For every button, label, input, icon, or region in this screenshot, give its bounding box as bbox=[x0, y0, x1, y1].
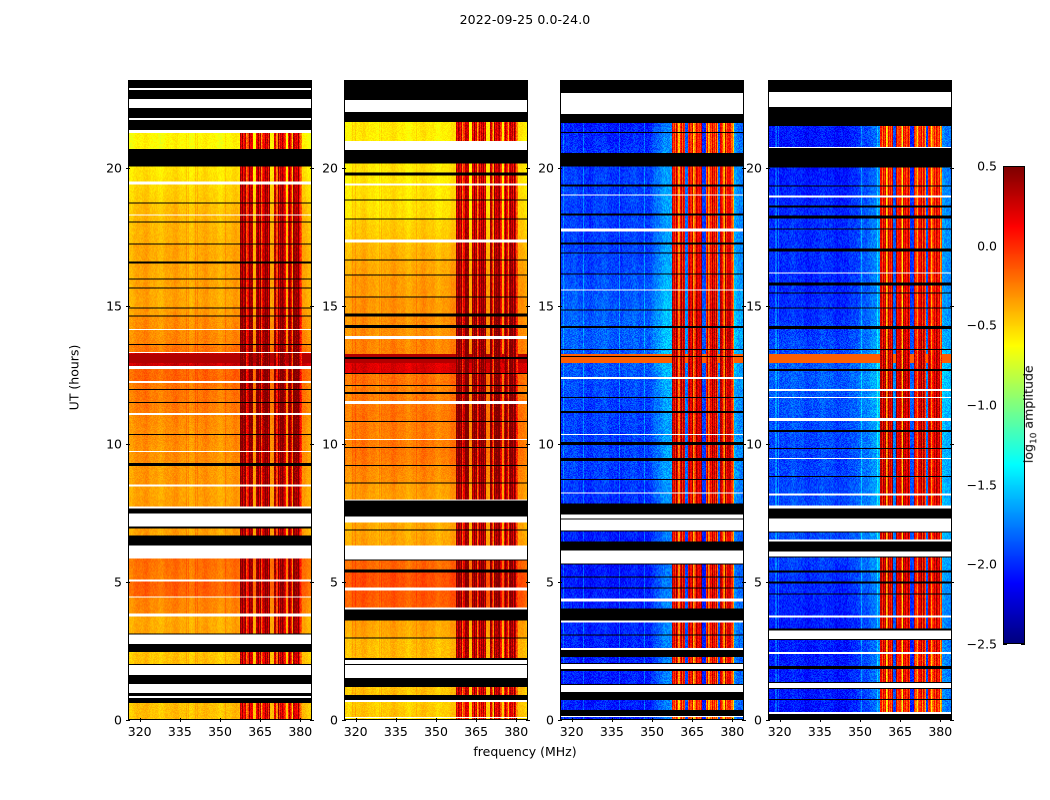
y-tick-label: 0 bbox=[518, 713, 554, 728]
y-tick-mark bbox=[950, 444, 954, 445]
figure-canvas: 2022-09-25 0.0-24.0 XX, V11=EA08 YY, V11… bbox=[0, 0, 1050, 800]
y-tick-label: 0 bbox=[302, 713, 338, 728]
y-tick-mark bbox=[558, 582, 562, 583]
x-tick-mark bbox=[652, 718, 653, 722]
waterfall-yx bbox=[769, 81, 951, 719]
y-tick-mark bbox=[558, 720, 562, 721]
panel-xy-image bbox=[561, 81, 743, 719]
colorbar-tick-mark bbox=[1021, 644, 1025, 645]
y-tick-mark bbox=[766, 306, 770, 307]
x-tick-label: 320 bbox=[560, 724, 584, 739]
panel-yx[interactable]: YX, V11=EA08 bbox=[768, 80, 952, 720]
y-tick-mark bbox=[126, 444, 130, 445]
x-tick-label: 350 bbox=[424, 724, 448, 739]
colorbar-tick-mark bbox=[1003, 644, 1007, 645]
x-tick-mark bbox=[940, 718, 941, 722]
x-tick-mark bbox=[356, 718, 357, 722]
y-tick-mark bbox=[126, 582, 130, 583]
panel-yx-image bbox=[769, 81, 951, 719]
figure-suptitle: 2022-09-25 0.0-24.0 bbox=[0, 12, 1050, 27]
x-tick-label: 350 bbox=[640, 724, 664, 739]
waterfall-yy bbox=[345, 81, 527, 719]
x-tick-mark bbox=[900, 718, 901, 722]
panel-yy[interactable]: YY, V11=EA08 bbox=[344, 80, 528, 720]
x-tick-mark bbox=[436, 718, 437, 722]
x-tick-mark bbox=[260, 718, 261, 722]
y-tick-mark bbox=[342, 306, 346, 307]
x-tick-mark bbox=[612, 718, 613, 722]
y-tick-mark bbox=[766, 168, 770, 169]
y-tick-label: 15 bbox=[302, 299, 338, 314]
y-tick-mark bbox=[950, 720, 954, 721]
waterfall-xy bbox=[561, 81, 743, 719]
y-tick-label: 20 bbox=[726, 161, 762, 176]
x-tick-label: 380 bbox=[928, 724, 952, 739]
y-tick-mark bbox=[558, 168, 562, 169]
x-tick-label: 320 bbox=[768, 724, 792, 739]
y-tick-label: 15 bbox=[86, 299, 122, 314]
panel-yy-image bbox=[345, 81, 527, 719]
y-tick-mark bbox=[342, 168, 346, 169]
y-tick-mark bbox=[950, 306, 954, 307]
x-tick-label: 350 bbox=[848, 724, 872, 739]
x-tick-label: 320 bbox=[128, 724, 152, 739]
x-tick-mark bbox=[572, 718, 573, 722]
x-tick-label: 350 bbox=[208, 724, 232, 739]
panel-xx-image bbox=[129, 81, 311, 719]
y-tick-mark bbox=[766, 582, 770, 583]
y-tick-mark bbox=[342, 582, 346, 583]
colorbar-tick-label: −2.0 bbox=[959, 557, 997, 572]
y-tick-mark bbox=[950, 582, 954, 583]
x-tick-mark bbox=[180, 718, 181, 722]
x-axis-label: frequency (MHz) bbox=[0, 744, 1050, 759]
x-tick-mark bbox=[780, 718, 781, 722]
y-tick-label: 15 bbox=[726, 299, 762, 314]
y-tick-label: 0 bbox=[86, 713, 122, 728]
y-tick-mark bbox=[558, 306, 562, 307]
y-tick-mark bbox=[126, 168, 130, 169]
x-tick-label: 365 bbox=[680, 724, 704, 739]
x-tick-label: 365 bbox=[248, 724, 272, 739]
colorbar-tick-label: −1.0 bbox=[959, 398, 997, 413]
y-tick-mark bbox=[126, 720, 130, 721]
x-tick-mark bbox=[396, 718, 397, 722]
y-tick-label: 10 bbox=[518, 437, 554, 452]
x-tick-mark bbox=[692, 718, 693, 722]
y-tick-label: 10 bbox=[86, 437, 122, 452]
y-tick-label: 20 bbox=[518, 161, 554, 176]
y-tick-label: 10 bbox=[302, 437, 338, 452]
y-tick-mark bbox=[766, 720, 770, 721]
colorbar-tick-label: −1.5 bbox=[959, 477, 997, 492]
waterfall-xx bbox=[129, 81, 311, 719]
x-tick-mark bbox=[140, 718, 141, 722]
colorbar-tick-label: −0.5 bbox=[959, 318, 997, 333]
y-tick-label: 20 bbox=[86, 161, 122, 176]
y-tick-mark bbox=[558, 444, 562, 445]
y-tick-mark bbox=[342, 720, 346, 721]
y-tick-label: 5 bbox=[726, 575, 762, 590]
colorbar-tick-label: 0.5 bbox=[959, 159, 997, 174]
y-tick-mark bbox=[766, 444, 770, 445]
panel-xx[interactable]: XX, V11=EA08 bbox=[128, 80, 312, 720]
y-tick-label: 15 bbox=[518, 299, 554, 314]
y-tick-label: 5 bbox=[302, 575, 338, 590]
y-tick-label: 5 bbox=[518, 575, 554, 590]
y-tick-mark bbox=[126, 306, 130, 307]
y-axis-label: UT (hours) bbox=[67, 298, 82, 458]
colorbar-label: log10 amplitude bbox=[1021, 334, 1040, 494]
y-tick-label: 0 bbox=[726, 713, 762, 728]
colorbar-tick-label: 0.0 bbox=[959, 238, 997, 253]
x-tick-mark bbox=[476, 718, 477, 722]
x-tick-mark bbox=[820, 718, 821, 722]
x-tick-label: 335 bbox=[600, 724, 624, 739]
x-tick-label: 335 bbox=[168, 724, 192, 739]
x-tick-label: 365 bbox=[888, 724, 912, 739]
panel-xy[interactable]: XY, V11=EA08 bbox=[560, 80, 744, 720]
x-tick-mark bbox=[860, 718, 861, 722]
x-tick-label: 335 bbox=[384, 724, 408, 739]
y-tick-mark bbox=[950, 168, 954, 169]
y-tick-label: 5 bbox=[86, 575, 122, 590]
x-tick-mark bbox=[220, 718, 221, 722]
y-tick-label: 20 bbox=[302, 161, 338, 176]
x-tick-label: 335 bbox=[808, 724, 832, 739]
y-tick-label: 10 bbox=[726, 437, 762, 452]
colorbar-tick-label: −2.5 bbox=[959, 637, 997, 652]
y-tick-mark bbox=[342, 444, 346, 445]
x-tick-label: 365 bbox=[464, 724, 488, 739]
x-tick-label: 320 bbox=[344, 724, 368, 739]
